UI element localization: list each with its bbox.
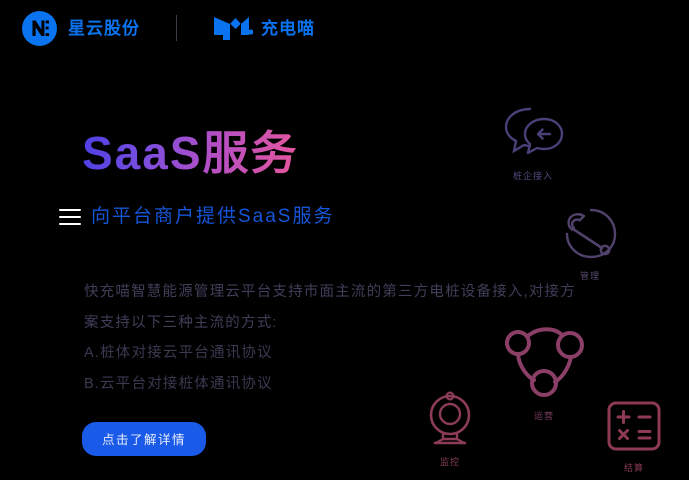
- hamburger-icon: [59, 209, 81, 225]
- brand-primary[interactable]: 星云股份: [22, 11, 140, 46]
- feature-pile-access[interactable]: 桩企接入: [500, 103, 566, 182]
- chat-bubbles-access-icon: [500, 103, 566, 166]
- feature-label: 桩企接入: [513, 169, 553, 182]
- feature-label: 运营: [534, 409, 554, 422]
- page-title: SaaS服务: [82, 129, 299, 177]
- brand-secondary-name: 充电喵: [261, 20, 315, 37]
- wrench-manage-icon: [561, 207, 619, 266]
- monitor-camera-icon: [424, 389, 476, 452]
- calculator-icon: [604, 399, 664, 458]
- cat-face-icon: [211, 13, 253, 43]
- network-share-icon: [498, 323, 590, 406]
- brand-divider: [176, 15, 177, 41]
- page-header: 星云股份 充电喵: [0, 0, 689, 56]
- feature-label: 结算: [624, 461, 644, 474]
- learn-more-button[interactable]: 点击了解详情: [82, 422, 206, 456]
- feature-operations[interactable]: 运营: [498, 323, 590, 422]
- feature-settlement[interactable]: 结算: [604, 399, 664, 474]
- feature-management[interactable]: 管理: [561, 207, 619, 282]
- ne-monogram-circle-icon: [22, 11, 57, 46]
- feature-label: 管理: [580, 269, 600, 282]
- page-subtitle: 向平台商户提供SaaS服务: [91, 207, 334, 226]
- subtitle-row: 向平台商户提供SaaS服务: [59, 207, 334, 226]
- feature-monitoring[interactable]: 监控: [424, 389, 476, 468]
- feature-label: 监控: [440, 455, 460, 468]
- brand-primary-name: 星云股份: [68, 20, 140, 37]
- list-item: A.桩体对接云平台通讯协议: [84, 338, 484, 369]
- brand-secondary[interactable]: 充电喵: [211, 13, 315, 43]
